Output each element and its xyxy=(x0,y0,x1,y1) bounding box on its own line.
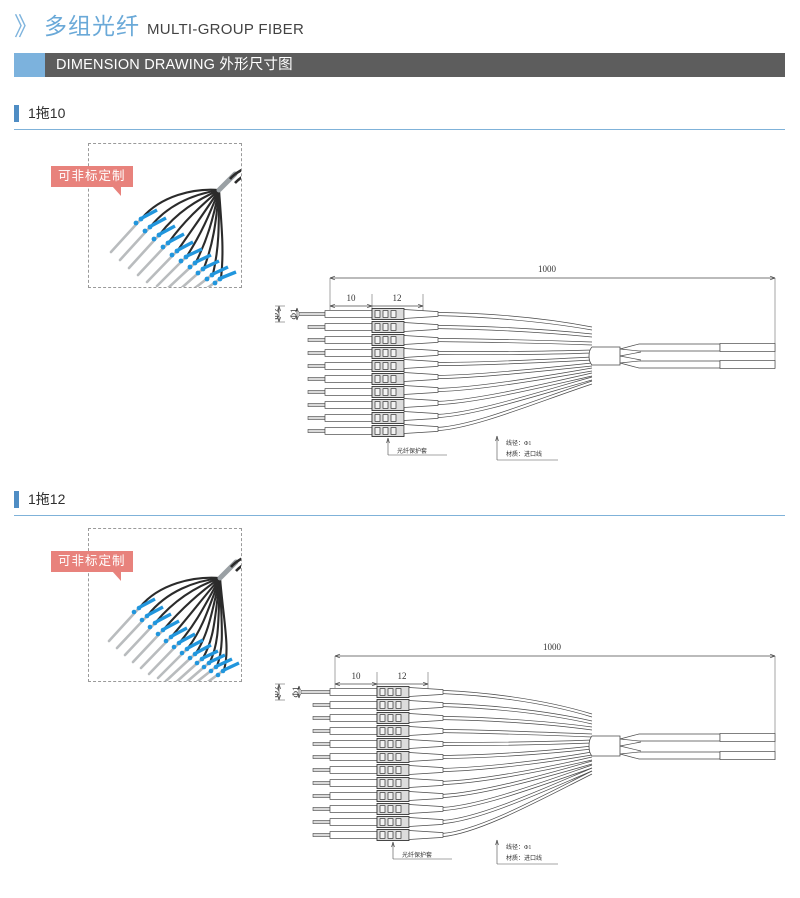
section-tick-icon xyxy=(14,491,19,508)
page-root: 》 多组光纤 MULTI-GROUP FIBER DIMENSION DRAWI… xyxy=(0,0,800,898)
section-header-2: 1拖12 xyxy=(14,490,785,516)
product-photo-2: 可非标定制 xyxy=(88,528,242,682)
band-accent-block xyxy=(14,53,45,77)
dimension-drawing-svg-2: 1000 10 12 Φ2 Φ1 光纤保护套 线径：Φ1 材质：进口线 xyxy=(275,628,790,890)
page-title: 》 多组光纤 MULTI-GROUP FIBER xyxy=(14,14,304,39)
section-label-1: 1拖10 xyxy=(28,104,65,122)
dim-total-length-1: 1000 xyxy=(538,264,557,274)
dim-seg-a-2: 10 xyxy=(352,671,362,681)
technical-drawing-2: 1000 10 12 Φ2 Φ1 光纤保护套 线径：Φ1 材质：进口线 xyxy=(275,628,790,890)
title-chinese: 多组光纤 xyxy=(44,15,140,38)
dim-inner-dia-1: Φ1 xyxy=(289,308,299,319)
annotation-wire-material-1: 材质：进口线 xyxy=(506,450,542,458)
dim-seg-a-1: 10 xyxy=(347,293,357,303)
annotation-wire-dia-2: 线径：Φ1 xyxy=(506,843,531,851)
dimension-drawing-svg-1: 1000 10 12 Φ2 Φ1 光纤保护套 线径：Φ1 材质：进口线 xyxy=(275,250,790,485)
dim-inner-dia-2: Φ1 xyxy=(291,686,301,697)
section-rule xyxy=(14,129,785,130)
section-tick-icon xyxy=(14,105,19,122)
chevron-icon: 》 xyxy=(14,15,37,40)
section-header-1: 1拖10 xyxy=(14,104,785,130)
section-rule xyxy=(14,515,785,516)
custom-callout-2: 可非标定制 xyxy=(51,551,133,572)
title-english: MULTI-GROUP FIBER xyxy=(147,22,304,37)
annotation-wire-dia-1: 线径：Φ1 xyxy=(506,439,531,447)
dim-seg-b-2: 12 xyxy=(398,671,407,681)
dim-total-length-2: 1000 xyxy=(543,642,562,652)
band-label: DIMENSION DRAWING 外形尺寸图 xyxy=(45,58,293,73)
annotation-wire-material-2: 材质：进口线 xyxy=(506,854,542,862)
dimension-drawing-band: DIMENSION DRAWING 外形尺寸图 xyxy=(14,53,785,77)
custom-callout-1: 可非标定制 xyxy=(51,166,133,187)
dim-outer-dia-1: Φ2 xyxy=(275,308,281,319)
dim-outer-dia-2: Φ2 xyxy=(275,686,281,697)
annotation-sleeve-2: 光纤保护套 xyxy=(402,851,432,859)
product-photo-1: 可非标定制 xyxy=(88,143,242,288)
annotation-sleeve-1: 光纤保护套 xyxy=(397,447,427,455)
dim-seg-b-1: 12 xyxy=(393,293,402,303)
section-label-2: 1拖12 xyxy=(28,490,65,508)
technical-drawing-1: 1000 10 12 Φ2 Φ1 光纤保护套 线径：Φ1 材质：进口线 xyxy=(275,250,790,485)
